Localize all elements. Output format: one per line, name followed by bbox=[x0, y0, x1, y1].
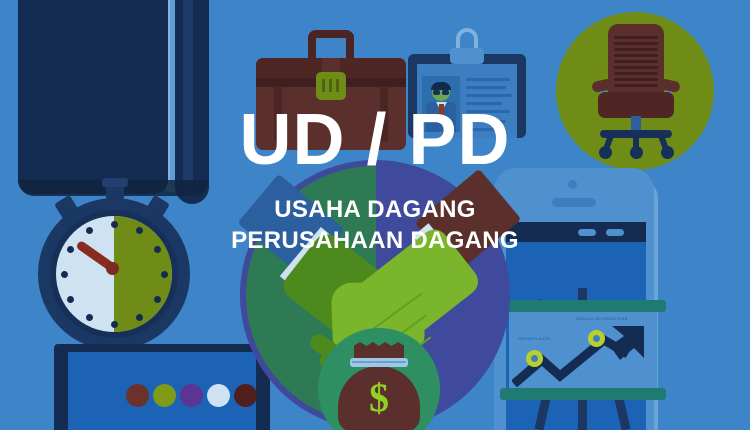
money-bag-illustration: $ bbox=[338, 342, 420, 430]
clipboard-clip bbox=[450, 48, 484, 64]
avatar-hair bbox=[431, 82, 451, 90]
color-swatch-panel bbox=[54, 344, 270, 430]
stopwatch-tick bbox=[154, 296, 161, 303]
briefcase-lid-left bbox=[256, 58, 322, 78]
dollar-symbol-icon: $ bbox=[338, 378, 420, 418]
id-text-line bbox=[466, 86, 506, 89]
board-leg-right bbox=[615, 397, 631, 430]
color-swatch[interactable] bbox=[153, 384, 176, 407]
avatar-glasses-left bbox=[433, 90, 440, 95]
chair-rib bbox=[614, 42, 658, 45]
stopwatch-tick bbox=[136, 314, 143, 321]
color-swatch[interactable] bbox=[126, 384, 149, 407]
briefcase-lid-right bbox=[340, 58, 406, 78]
chart-note-2: ANNUAL REVENUE RISE bbox=[576, 316, 628, 321]
title-block: UD / PD USAHA DAGANG PERUSAHAAN DAGANG bbox=[0, 104, 750, 256]
subtitle-line-2: PERUSAHAAN DAGANG bbox=[0, 225, 750, 256]
id-text-line bbox=[466, 94, 512, 97]
chair-rib bbox=[614, 78, 658, 81]
stopwatch-tick bbox=[61, 271, 68, 278]
briefcase-lock bbox=[316, 72, 346, 100]
chair-rib bbox=[614, 66, 658, 69]
infographic-canvas: GROWTH DATA ANNUAL REVENUE RISE $ UD / P… bbox=[0, 0, 750, 430]
color-swatch[interactable] bbox=[180, 384, 203, 407]
stopwatch-tick bbox=[111, 321, 118, 328]
stopwatch-center-pin bbox=[106, 262, 119, 275]
stopwatch-tick bbox=[67, 296, 74, 303]
board-top-rail bbox=[500, 300, 666, 312]
subtitle-line-1: USAHA DAGANG bbox=[0, 194, 750, 225]
chair-rib bbox=[614, 84, 658, 87]
chair-rib bbox=[614, 48, 658, 51]
stopwatch-tick bbox=[86, 314, 93, 321]
chart-marker-1 bbox=[526, 350, 543, 367]
color-swatch[interactable] bbox=[207, 384, 230, 407]
board-leg-center bbox=[578, 398, 587, 430]
board-leg-left bbox=[535, 397, 551, 430]
growth-chart-board: GROWTH DATA ANNUAL REVENUE RISE bbox=[500, 288, 666, 430]
chair-rib bbox=[614, 36, 658, 39]
stopwatch-tick bbox=[161, 271, 168, 278]
chair-rib bbox=[614, 60, 658, 63]
money-bag-tie-line bbox=[352, 361, 406, 363]
chair-rib bbox=[614, 54, 658, 57]
chart-marker-2 bbox=[588, 330, 605, 347]
chair-rib bbox=[614, 72, 658, 75]
chart-note-1: GROWTH DATA bbox=[518, 336, 550, 341]
avatar-glasses-right bbox=[442, 90, 449, 95]
id-text-line bbox=[466, 78, 510, 81]
page-title: UD / PD bbox=[0, 104, 750, 176]
